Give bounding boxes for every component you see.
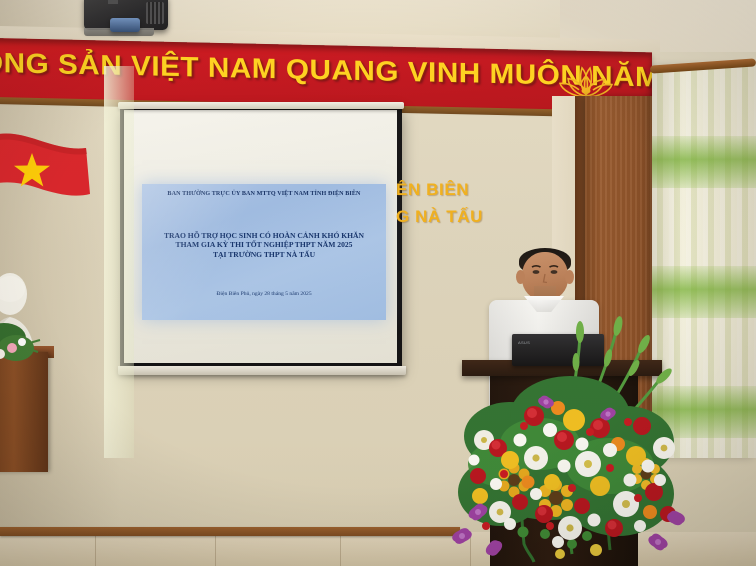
projected-slide: BAN THƯỜNG TRỰC ỦY BAN MTTQ VIỆT NAM TỈN…	[142, 184, 386, 320]
slide-organization: BAN THƯỜNG TRỰC ỦY BAN MTTQ VIỆT NAM TỈN…	[142, 191, 386, 197]
projector-vent	[146, 2, 164, 24]
screen-roller-case	[118, 102, 404, 109]
vietnam-flag	[0, 128, 98, 226]
flower-arrangement	[440, 316, 688, 566]
curtain-sheer-layer	[104, 66, 134, 458]
screen-bottom-bar	[118, 366, 406, 375]
screen-surface: BAN THƯỜNG TRỰC ỦY BAN MTTQ VIỆT NAM TỈN…	[124, 110, 397, 363]
wall-yellow-text: ÊN BIÊN G NÀ TẤU	[396, 176, 556, 230]
banner-slogan-text: ỘNG SẢN VIỆT NAM QUANG VINH MUÔN NĂM	[0, 47, 574, 92]
projection-screen: BAN THƯỜNG TRỰC ỦY BAN MTTQ VIỆT NAM TỈN…	[120, 106, 402, 368]
pedestal-flowers	[0, 318, 60, 372]
speaker-ear-right	[565, 270, 574, 284]
slide-title-line-1: TRAO HỖ TRỢ HỌC SINH CÓ HOÀN CẢNH KHÓ KH…	[142, 231, 386, 240]
wall-text-line-2: G NÀ TẤU	[396, 203, 556, 230]
speaker-ear-left	[516, 270, 525, 284]
projector-mount	[108, 0, 118, 4]
ceiling-projector	[84, 0, 168, 30]
slide-title-line-2: THAM GIA KỲ THI TỐT NGHIỆP THPT NĂM 2025	[142, 240, 386, 249]
slide-title: TRAO HỖ TRỢ HỌC SINH CÓ HOÀN CẢNH KHÓ KH…	[142, 231, 386, 259]
photo-scene: ỘNG SẢN VIỆT NAM QUANG VINH MUÔN NĂM	[0, 0, 756, 566]
slide-title-line-3: TẠI TRƯỜNG THPT NÀ TẤU	[142, 250, 386, 259]
wooden-baseboard	[0, 527, 460, 536]
wall-text-line-1: ÊN BIÊN	[396, 176, 556, 203]
slide-date: Điện Biên Phủ, ngày 28 tháng 5 năm 2025	[142, 291, 386, 297]
projector-lens	[110, 18, 140, 32]
